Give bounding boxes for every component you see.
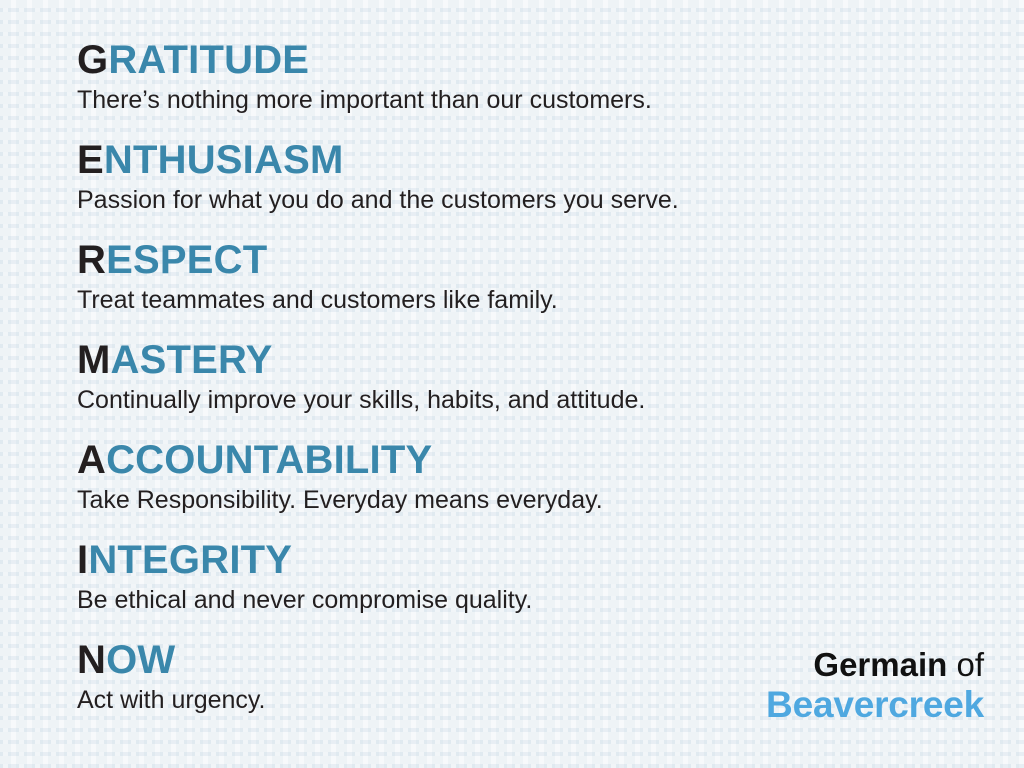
- value-initial: N: [77, 638, 106, 682]
- value-description-gratitude: There’s nothing more important than our …: [77, 83, 1024, 117]
- value-heading-enthusiasm: ENTHUSIASM: [77, 138, 1024, 182]
- value-initial: A: [77, 438, 106, 482]
- value-rest: RATITUDE: [108, 38, 309, 82]
- value-initial: M: [77, 338, 111, 382]
- value-heading-mastery: MASTERY: [77, 338, 1024, 382]
- value-description-respect: Treat teammates and customers like famil…: [77, 283, 1024, 317]
- value-initial: G: [77, 38, 108, 82]
- value-heading-accountability: ACCOUNTABILITY: [77, 438, 1024, 482]
- value-description-enthusiasm: Passion for what you do and the customer…: [77, 183, 1024, 217]
- value-initial: R: [77, 238, 106, 282]
- value-item-integrity: INTEGRITY Be ethical and never compromis…: [77, 538, 1024, 638]
- value-initial: E: [77, 138, 104, 182]
- value-rest: CCOUNTABILITY: [106, 438, 432, 482]
- value-description-accountability: Take Responsibility. Everyday means ever…: [77, 483, 1024, 517]
- value-rest: NTEGRITY: [88, 538, 292, 582]
- value-description-integrity: Be ethical and never compromise quality.: [77, 583, 1024, 617]
- logo-location-text: Beavercreek: [766, 684, 984, 726]
- value-rest: ASTERY: [111, 338, 273, 382]
- value-item-respect: RESPECT Treat teammates and customers li…: [77, 238, 1024, 338]
- value-item-mastery: MASTERY Continually improve your skills,…: [77, 338, 1024, 438]
- value-rest: NTHUSIASM: [104, 138, 344, 182]
- value-rest: ESPECT: [106, 238, 267, 282]
- value-item-accountability: ACCOUNTABILITY Take Responsibility. Ever…: [77, 438, 1024, 538]
- value-rest: OW: [106, 638, 175, 682]
- value-heading-integrity: INTEGRITY: [77, 538, 1024, 582]
- value-initial: I: [77, 538, 88, 582]
- value-heading-gratitude: GRATITUDE: [77, 38, 1024, 82]
- logo-connector-text: of: [947, 646, 984, 683]
- dealership-logo: Germain of Beavercreek: [766, 646, 984, 726]
- value-item-gratitude: GRATITUDE There’s nothing more important…: [77, 38, 1024, 138]
- value-item-enthusiasm: ENTHUSIASM Passion for what you do and t…: [77, 138, 1024, 238]
- logo-line-brand: Germain of: [766, 646, 984, 684]
- value-heading-respect: RESPECT: [77, 238, 1024, 282]
- logo-brand-text: Germain: [813, 646, 947, 683]
- value-description-mastery: Continually improve your skills, habits,…: [77, 383, 1024, 417]
